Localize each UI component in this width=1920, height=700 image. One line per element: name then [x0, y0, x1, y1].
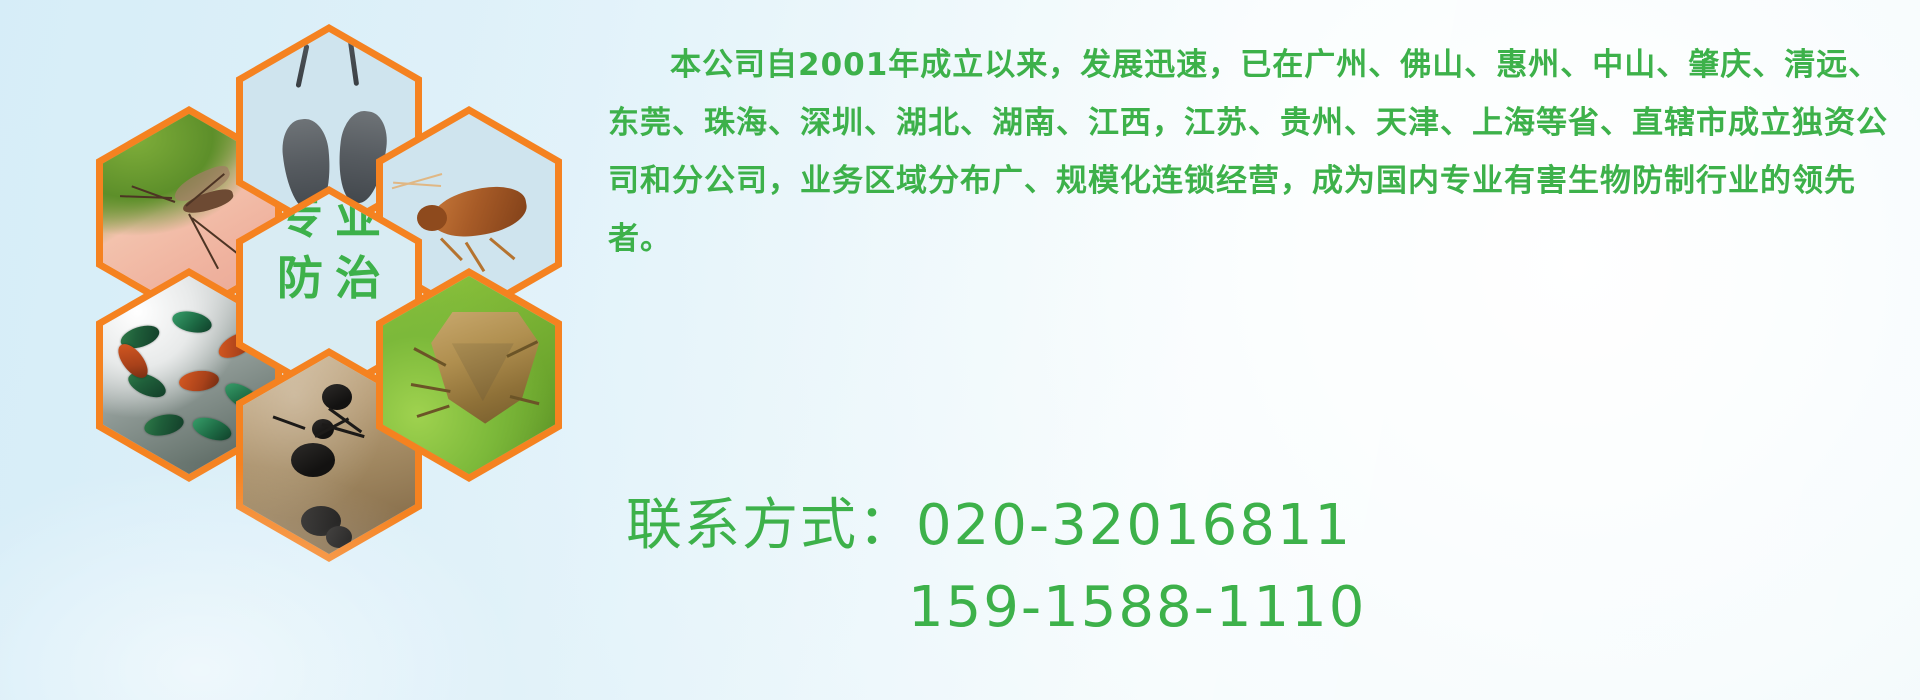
banner-content: 本公司自2001年成立以来，发展迅速，已在广州、佛山、惠州、中山、肇庆、清远、东… [608, 0, 1908, 700]
company-intro-paragraph: 本公司自2001年成立以来，发展迅速，已在广州、佛山、惠州、中山、肇庆、清远、东… [608, 36, 1908, 268]
stink-bug-icon [383, 276, 555, 474]
hex-inner [383, 276, 555, 474]
contact-phone-primary[interactable]: 联系方式：020-32016811 [608, 480, 1908, 561]
honeycomb-image-cluster: 专业 防治 [78, 0, 598, 576]
promo-banner: 专业 防治 [0, 0, 1920, 700]
contact-block: 联系方式：020-32016811 159-1588-1110 [608, 480, 1908, 640]
contact-phone-secondary[interactable]: 159-1588-1110 [608, 575, 1908, 640]
badge-line-2: 防治 [243, 255, 415, 302]
